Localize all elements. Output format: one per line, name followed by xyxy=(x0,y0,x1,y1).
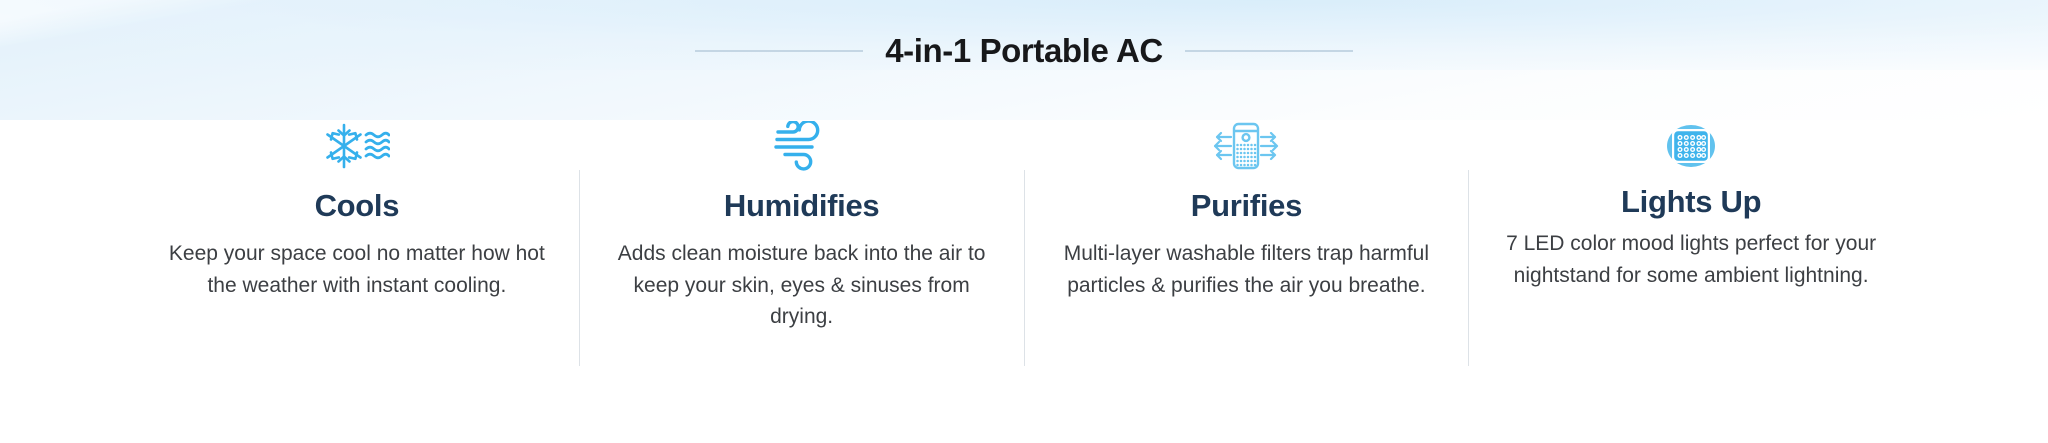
feature-card-lights-up: Lights Up 7 LED color mood lights perfec… xyxy=(1469,118,1913,291)
feature-heading: Humidifies xyxy=(724,188,879,224)
section-title-row: 4-in-1 Portable AC xyxy=(0,34,2048,67)
feature-heading: Cools xyxy=(315,188,400,224)
led-light-panel-icon xyxy=(1664,118,1718,174)
title-rule-left xyxy=(695,50,863,52)
feature-card-humidifies: Humidifies Adds clean moisture back into… xyxy=(580,118,1024,333)
snowflake-cooling-icon xyxy=(324,118,390,174)
feature-body: 7 LED color mood lights perfect for your… xyxy=(1501,228,1881,292)
wind-humidity-icon xyxy=(772,118,832,174)
feature-card-cools: Cools Keep your space cool no matter how… xyxy=(135,118,579,301)
feature-heading: Purifies xyxy=(1191,188,1302,224)
feature-heading: Lights Up xyxy=(1621,184,1761,220)
feature-card-purifies: Purifies Multi-layer washable filters tr… xyxy=(1025,118,1469,301)
title-rule-right xyxy=(1185,50,1353,52)
feature-body: Keep your space cool no matter how hot t… xyxy=(167,238,547,302)
air-purifier-icon xyxy=(1213,118,1279,174)
section-title: 4-in-1 Portable AC xyxy=(885,34,1163,67)
product-feature-section: 4-in-1 Portable AC xyxy=(0,0,2048,443)
feature-columns: Cools Keep your space cool no matter how… xyxy=(135,118,1913,366)
feature-body: Adds clean moisture back into the air to… xyxy=(612,238,992,334)
feature-body: Multi-layer washable filters trap harmfu… xyxy=(1056,238,1436,302)
